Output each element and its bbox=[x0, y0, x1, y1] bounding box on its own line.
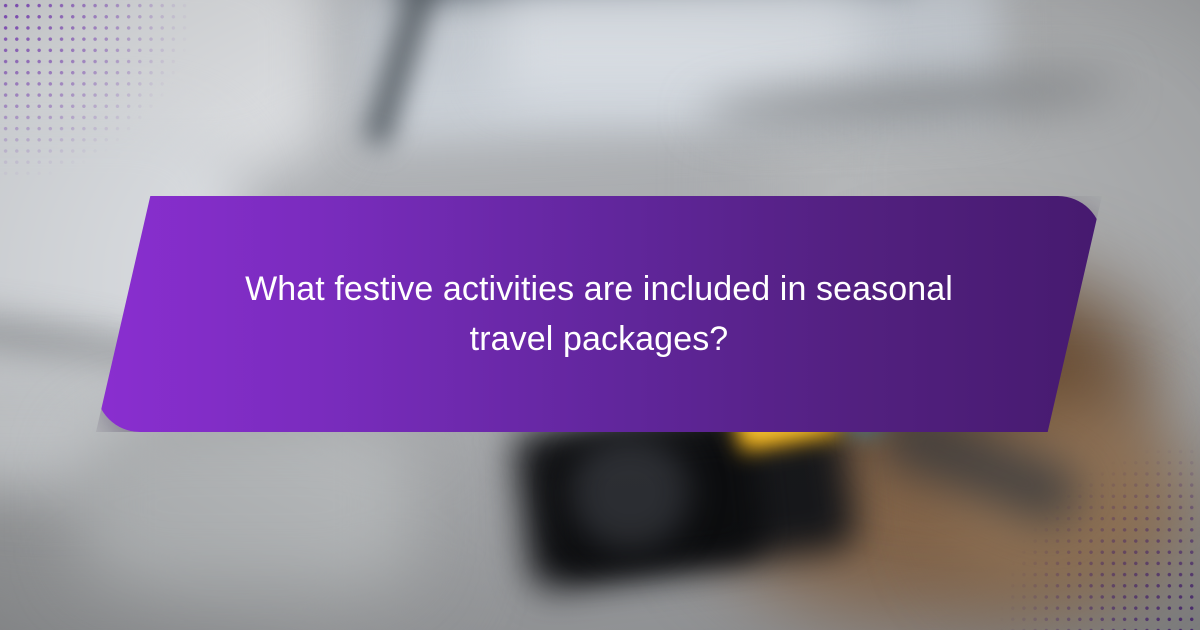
question-text: What festive activities are included in … bbox=[216, 264, 982, 365]
question-card-content: What festive activities are included in … bbox=[96, 196, 1102, 432]
social-card-canvas: What festive activities are included in … bbox=[0, 0, 1200, 630]
question-card: What festive activities are included in … bbox=[96, 196, 1102, 432]
